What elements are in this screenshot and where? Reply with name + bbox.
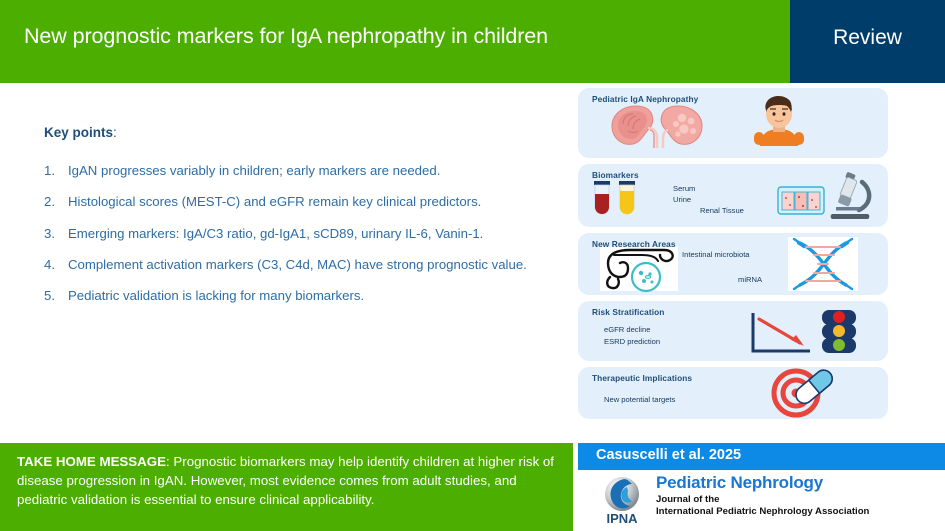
list-item-number: 5. [44,286,68,305]
panel-biomarkers: Biomarkers Serum Urine Renal Tissue [578,164,888,227]
ipna-globe-icon: IPNA [594,474,650,526]
list-item: 3. Emerging markers: IgA/C3 ratio, gd-Ig… [44,224,554,243]
list-item: 2. Histological scores (MEST-C) and eGFR… [44,192,554,211]
panel-title: Risk Stratification [592,307,664,317]
panel-label-serum: Serum [673,184,695,193]
graphical-abstract-poster: New prognostic markers for IgA nephropat… [0,0,945,531]
list-item: 5. Pediatric validation is lacking for m… [44,286,554,305]
panel-label-renal-tissue: Renal Tissue [700,206,744,215]
key-points-heading-label: Key points [44,125,113,140]
panel-title: Biomarkers [592,170,639,180]
kidney-cysts-icon [661,106,702,148]
panel-pediatric-iga-nephropathy: Pediatric IgA Nephropathy [578,88,888,158]
key-points-list: 1. IgAN progresses variably in children;… [44,161,554,305]
list-item-text: Pediatric validation is lacking for many… [68,286,554,305]
author-citation: Casuscelli et al. 2025 [596,447,741,463]
take-home-label: TAKE HOME MESSAGE [17,454,166,469]
list-item-text: Histological scores (MEST-C) and eGFR re… [68,192,554,211]
declining-chart-icon [753,313,810,351]
panel-title: Therapeutic Implications [592,373,692,383]
panel-new-research-areas: New Research Areas Intestinal microbiota… [578,233,888,295]
key-points-heading-colon: : [113,125,117,140]
journal-title: Pediatric Nephrology [656,473,823,493]
journal-subtitle-line2: International Pediatric Nephrology Assoc… [656,506,869,517]
blood-tube-icon [594,181,610,214]
journal-subtitle-line1: Journal of the [656,494,719,505]
infographic-panels: Pediatric IgA Nephropathy [578,88,888,425]
panel-label-intestinal-microbiota: Intestinal microbiota [682,250,750,259]
panel-label-esrd-prediction: ESRD prediction [604,337,660,346]
list-item-number: 2. [44,192,68,211]
urine-tube-icon [619,181,635,214]
ipna-wordmark: IPNA [606,511,638,526]
panel-title: New Research Areas [592,239,676,249]
journal-branding: IPNA Pediatric Nephrology Journal of the… [578,470,945,531]
list-item-text: Complement activation markers (C3, C4d, … [68,255,554,274]
panel-label-new-potential-targets: New potential targets [604,395,675,404]
microscope-icon [831,172,870,219]
list-item-text: IgAN progresses variably in children; ea… [68,161,554,180]
kidney-icon [612,106,657,148]
list-item: 1. IgAN progresses variably in children;… [44,161,554,180]
dna-helix-icon [788,237,858,291]
target-pill-icon [774,367,836,415]
list-item: 4. Complement activation markers (C3, C4… [44,255,554,274]
key-points-heading: Key points: [44,125,554,140]
list-item-number: 1. [44,161,68,180]
list-item-number: 4. [44,255,68,274]
tissue-slide-icon [778,187,824,214]
panel-risk-stratification: Risk Stratification eGFR decline ESRD pr… [578,301,888,361]
page-title: New prognostic markers for IgA nephropat… [24,24,774,49]
article-type-badge: Review [790,26,945,50]
take-home-message-bar: TAKE HOME MESSAGE: Prognostic biomarkers… [0,443,573,531]
key-points-section: Key points: 1. IgAN progresses variably … [44,125,554,317]
panel-label-mirna: miRNA [738,275,762,284]
panel-label-urine: Urine [673,195,691,204]
panel-label-egfr-decline: eGFR decline [604,325,650,334]
author-citation-bar: Casuscelli et al. 2025 [578,443,945,470]
traffic-light-icon [822,310,856,353]
child-patient-icon [754,96,804,146]
panel-title: Pediatric IgA Nephropathy [592,94,698,104]
list-item-text: Emerging markers: IgA/C3 ratio, gd-IgA1,… [68,224,554,243]
intestine-microbiota-icon [600,247,678,291]
take-home-message-text: TAKE HOME MESSAGE: Prognostic biomarkers… [17,452,555,509]
list-item-number: 3. [44,224,68,243]
panel-therapeutic-implications: Therapeutic Implications New potential t… [578,367,888,419]
